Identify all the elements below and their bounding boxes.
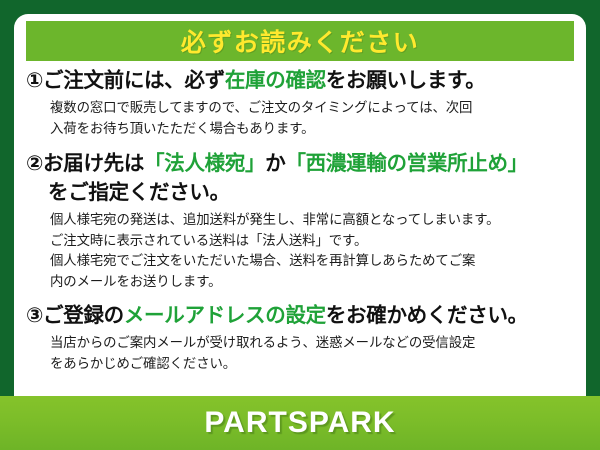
brand-logo-text: PARTSPARK bbox=[204, 406, 395, 440]
item-3-heading-part-3: をお確かめください。 bbox=[326, 304, 528, 327]
item-2-heading-part-1: ②お届け先は bbox=[26, 152, 144, 175]
item-2-heading-line-1: ②お届け先は「法人様宛」か「西濃運輸の営業所止め」 bbox=[26, 149, 576, 178]
item-2-body-line-2: ご注文時に表示されている送料は「法人送料」です。 bbox=[50, 231, 576, 252]
item-3-body-line-1: 当店からのご案内メールが受け取れるよう、迷惑メールなどの受信設定 bbox=[50, 333, 576, 354]
notice-poster: 必ずお読みください ①ご注文前には、必ず在庫の確認をお願いします。 複数の窓口で… bbox=[0, 0, 600, 450]
notice-content: ①ご注文前には、必ず在庫の確認をお願いします。 複数の窓口で販売してますので、ご… bbox=[14, 66, 586, 377]
notice-item-3: ③ご登録のメールアドレスの設定をお確かめください。 当店からのご案内メールが受け… bbox=[26, 301, 576, 374]
item-2-heading-highlight-2: 「西濃運輸の営業所止め」 bbox=[285, 152, 527, 175]
page-title: 必ずお読みください bbox=[181, 23, 420, 59]
notice-panel: 必ずお読みください ①ご注文前には、必ず在庫の確認をお願いします。 複数の窓口で… bbox=[14, 14, 586, 410]
item-2-body: 個人様宅宛の発送は、追加送料が発生し、非常に高額となってしまいます。 ご注文時に… bbox=[26, 207, 576, 292]
item-3-body-line-2: をあらかじめご確認ください。 bbox=[50, 354, 576, 375]
item-2-body-line-3: 個人様宅宛でご注文をいただいた場合、送料を再計算しあらためてご案 bbox=[50, 251, 576, 272]
item-3-heading: ③ご登録のメールアドレスの設定をお確かめください。 bbox=[26, 301, 576, 330]
item-2-body-line-1: 個人様宅宛の発送は、追加送料が発生し、非常に高額となってしまいます。 bbox=[50, 210, 576, 231]
notice-item-1: ①ご注文前には、必ず在庫の確認をお願いします。 複数の窓口で販売してますので、ご… bbox=[26, 66, 576, 139]
item-3-body: 当店からのご案内メールが受け取れるよう、迷惑メールなどの受信設定 をあらかじめご… bbox=[26, 330, 576, 374]
item-1-heading-part-3: をお願いします。 bbox=[326, 69, 486, 92]
item-2-body-line-4: 内のメールをお送りします。 bbox=[50, 272, 576, 293]
item-3-heading-highlight: メールアドレスの設定 bbox=[124, 304, 326, 327]
item-2-heading-line-2-text: をご指定ください。 bbox=[48, 181, 230, 204]
item-1-body-line-1: 複数の窓口で販売してますので、ご注文のタイミングによっては、次回 bbox=[50, 98, 576, 119]
item-2-heading-line-2: をご指定ください。 bbox=[26, 178, 576, 207]
item-1-heading: ①ご注文前には、必ず在庫の確認をお願いします。 bbox=[26, 66, 576, 95]
item-1-body: 複数の窓口で販売してますので、ご注文のタイミングによっては、次回 入荷をお待ち頂… bbox=[26, 95, 576, 139]
notice-title-bar: 必ずお読みください bbox=[26, 21, 574, 61]
brand-footer: PARTSPARK bbox=[0, 396, 600, 450]
item-2-heading-part-3: か bbox=[265, 152, 285, 175]
item-1-heading-part-1: ①ご注文前には、必ず bbox=[26, 69, 225, 92]
item-1-body-line-2: 入荷をお待ち頂いたただく場合もあります。 bbox=[50, 119, 576, 140]
item-3-heading-part-1: ③ご登録の bbox=[26, 304, 124, 327]
item-2-heading-highlight-1: 「法人様宛」 bbox=[144, 152, 265, 175]
item-1-heading-highlight: 在庫の確認 bbox=[225, 69, 326, 92]
notice-item-2: ②お届け先は「法人様宛」か「西濃運輸の営業所止め」 をご指定ください。 個人様宅… bbox=[26, 149, 576, 292]
spacer-after-item-1 bbox=[26, 142, 576, 149]
